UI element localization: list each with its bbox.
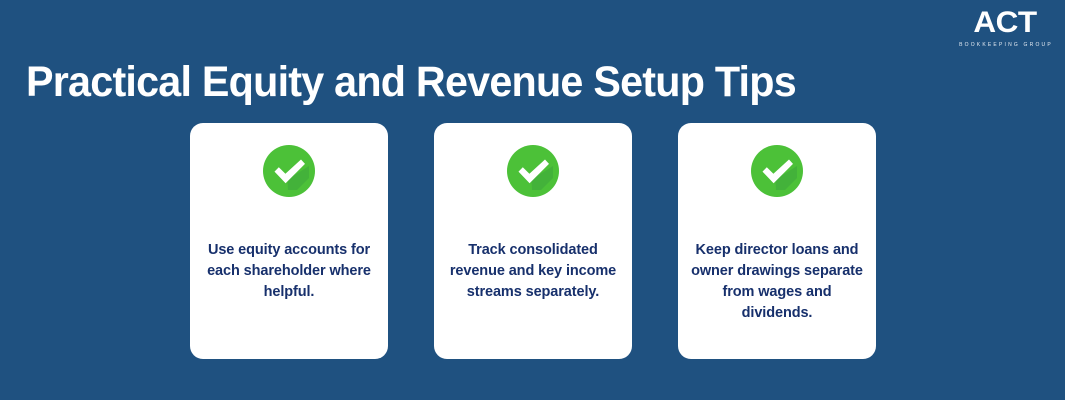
tip-card-3: Keep director loans and owner drawings s… — [678, 123, 876, 359]
act-bookkeeping-group-logo: ACT BOOKKEEPING GROUP — [957, 8, 1053, 49]
green-check-circle-icon — [507, 145, 559, 197]
green-check-circle-icon — [263, 145, 315, 197]
tip-card-2: Track consolidated revenue and key incom… — [434, 123, 632, 359]
logo-wordmark: ACT — [955, 8, 1056, 38]
tip-card-text: Use equity accounts for each shareholder… — [198, 240, 380, 303]
tip-card-text: Keep director loans and owner drawings s… — [686, 240, 868, 324]
tips-card-group: Use equity accounts for each shareholder… — [190, 123, 876, 359]
tip-card-1: Use equity accounts for each shareholder… — [190, 123, 388, 359]
page-title: Practical Equity and Revenue Setup Tips — [26, 55, 890, 109]
tip-card-text: Track consolidated revenue and key incom… — [442, 240, 624, 303]
logo-subtitle: BOOKKEEPING GROUP — [957, 41, 1053, 49]
green-check-circle-icon — [751, 145, 803, 197]
